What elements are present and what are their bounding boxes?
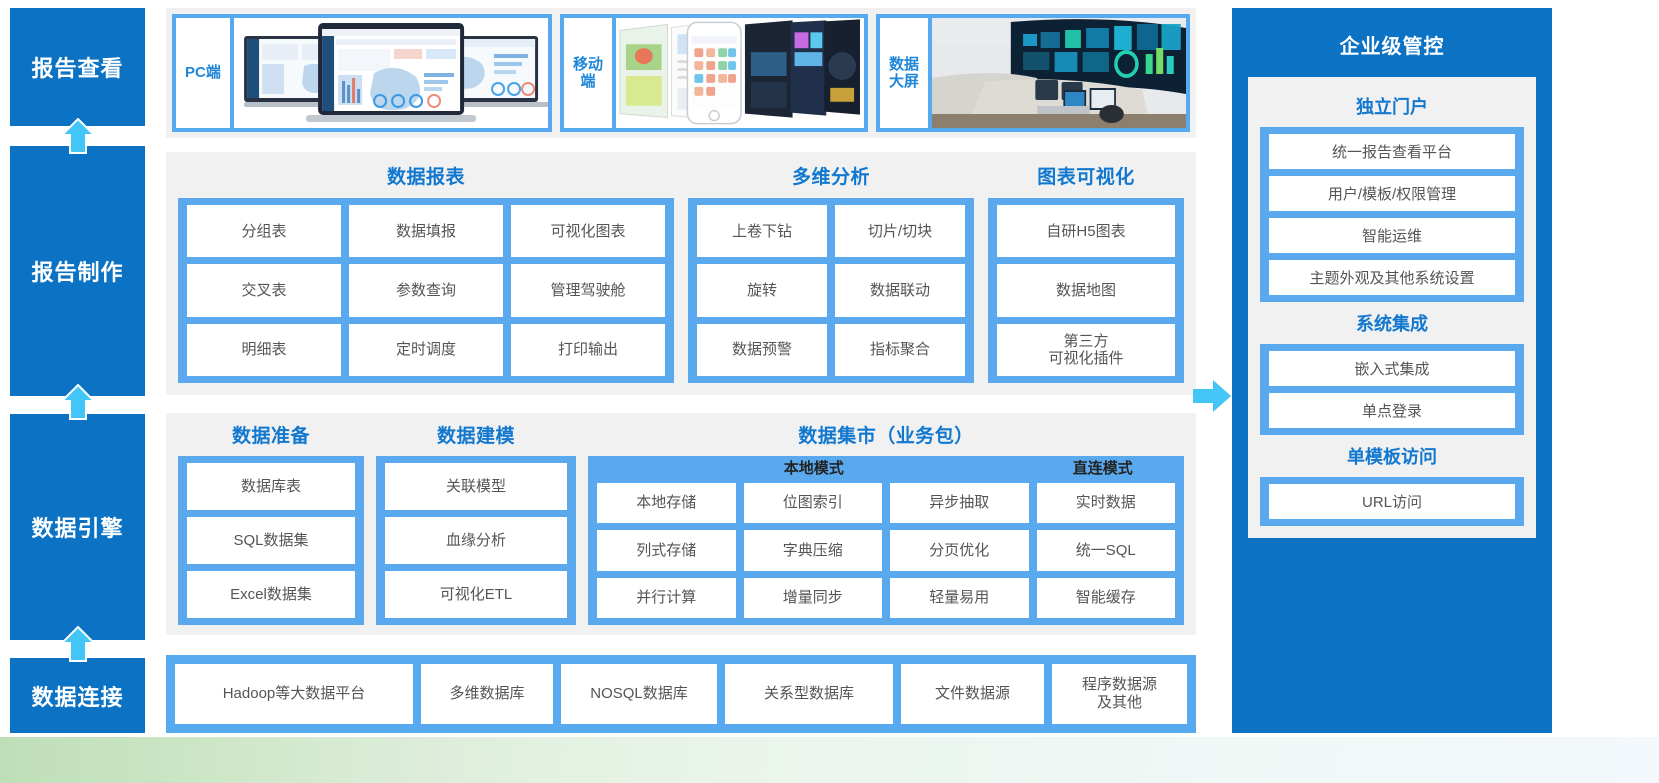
- enterprise-item[interactable]: 用户/模板/权限管理: [1269, 176, 1515, 211]
- grid-row: 旋转 数据联动: [697, 264, 965, 316]
- enterprise-item[interactable]: 嵌入式集成: [1269, 351, 1515, 386]
- group-title: 图表可视化: [988, 162, 1184, 189]
- grid-row: 明细表 定时调度 打印输出: [187, 324, 665, 376]
- feature-cell[interactable]: 关联模型: [385, 463, 567, 510]
- feature-cell[interactable]: 异步抽取: [890, 483, 1029, 524]
- group-multidim-analysis: 多维分析 上卷下钻 切片/切块 旋转 数据联动 数据预警 指标聚合: [688, 162, 974, 383]
- group-data-modeling: 数据建模 关联模型 血缘分析 可视化ETL: [376, 421, 576, 625]
- group-title: 数据准备: [178, 421, 364, 448]
- feature-cell[interactable]: 数据联动: [835, 264, 965, 316]
- feature-cell[interactable]: 数据预警: [697, 324, 827, 376]
- feature-cell[interactable]: 血缘分析: [385, 517, 567, 564]
- mode-header-local: 本地模式: [597, 458, 1031, 481]
- feature-cell[interactable]: 可视化图表: [511, 205, 665, 257]
- grid-row: 血缘分析: [385, 517, 567, 564]
- feature-cell[interactable]: 统一SQL: [1037, 530, 1176, 571]
- data-engine-panel: 数据准备 数据库表 SQL数据集 Excel数据集 数据建模: [166, 413, 1196, 635]
- datasource-cell[interactable]: 关系型数据库: [725, 664, 893, 724]
- enterprise-item[interactable]: 统一报告查看平台: [1269, 134, 1515, 169]
- feature-cell[interactable]: 智能缓存: [1037, 578, 1176, 619]
- feature-cell[interactable]: 可视化ETL: [385, 571, 567, 618]
- stage-label-data-engine[interactable]: 数据引擎: [10, 414, 145, 640]
- grid-row: 第三方 可视化插件: [997, 324, 1175, 376]
- device-tile-big-screen[interactable]: 数据 大屏: [876, 14, 1190, 132]
- right-arrow-icon: [1192, 376, 1232, 416]
- datasource-cell[interactable]: 文件数据源: [901, 664, 1044, 724]
- feature-cell[interactable]: 旋转: [697, 264, 827, 316]
- device-tile-label: 移动 端: [564, 18, 616, 128]
- feature-cell[interactable]: 交叉表: [187, 264, 341, 316]
- datasource-cell[interactable]: 多维数据库: [421, 664, 553, 724]
- feature-cell[interactable]: 自研H5图表: [997, 205, 1175, 257]
- feature-cell[interactable]: 数据地图: [997, 264, 1175, 316]
- mode-header-direct: 直连模式: [1031, 458, 1176, 481]
- enterprise-panel-title: 企业级管控: [1248, 8, 1536, 77]
- enterprise-group-title: 单模板访问: [1260, 435, 1524, 477]
- stage-label-data-connection[interactable]: 数据连接: [10, 658, 145, 733]
- feature-cell[interactable]: 明细表: [187, 324, 341, 376]
- device-tile-label: 数据 大屏: [880, 18, 932, 128]
- enterprise-item[interactable]: 单点登录: [1269, 393, 1515, 428]
- grid-row: 数据库表: [187, 463, 355, 510]
- up-arrow-icon: [61, 626, 95, 662]
- architecture-diagram: 报告查看 报告制作 数据引擎 数据连接 PC端: [0, 0, 1659, 783]
- up-arrow-icon: [61, 118, 95, 154]
- feature-cell[interactable]: 定时调度: [349, 324, 503, 376]
- grid-row: 数据预警 指标聚合: [697, 324, 965, 376]
- grid-row: SQL数据集: [187, 517, 355, 564]
- stage-label-report-view[interactable]: 报告查看: [10, 8, 145, 126]
- enterprise-group-single-template: URL访问: [1260, 477, 1524, 526]
- grid-row: 关联模型: [385, 463, 567, 510]
- group-title: 数据报表: [178, 162, 674, 189]
- feature-cell[interactable]: 实时数据: [1037, 483, 1176, 524]
- feature-cell[interactable]: 第三方 可视化插件: [997, 324, 1175, 376]
- feature-cell[interactable]: SQL数据集: [187, 517, 355, 564]
- datasource-cell[interactable]: NOSQL数据库: [561, 664, 717, 724]
- group-data-mart: 数据集市（业务包） 本地模式 直连模式 本地存储 位图索引 异步抽取 实时数据: [588, 421, 1184, 625]
- grid-row: 列式存储 字典压缩 分页优化 统一SQL: [597, 530, 1175, 571]
- group-grid: 自研H5图表 数据地图 第三方 可视化插件: [988, 198, 1184, 383]
- up-arrow-icon: [61, 384, 95, 420]
- grid-row: 数据地图: [997, 264, 1175, 316]
- enterprise-group-title: 系统集成: [1260, 302, 1524, 344]
- mobile-dashboard-screenshot: [616, 18, 864, 128]
- group-data-preparation: 数据准备 数据库表 SQL数据集 Excel数据集: [178, 421, 364, 625]
- enterprise-group-integration: 嵌入式集成 单点登录: [1260, 344, 1524, 435]
- feature-cell[interactable]: Excel数据集: [187, 571, 355, 618]
- grid-row: 自研H5图表: [997, 205, 1175, 257]
- enterprise-group-title: 独立门户: [1260, 85, 1524, 127]
- stage-label-text: 报告查看: [31, 51, 123, 83]
- enterprise-item[interactable]: 智能运维: [1269, 218, 1515, 253]
- grid-row: 本地存储 位图索引 异步抽取 实时数据: [597, 483, 1175, 524]
- enterprise-item[interactable]: 主题外观及其他系统设置: [1269, 260, 1515, 295]
- group-grid: 上卷下钻 切片/切块 旋转 数据联动 数据预警 指标聚合: [688, 198, 974, 383]
- report-build-panel: 数据报表 分组表 数据填报 可视化图表 交叉表 参数查询 管理驾驶舱 明细表 定: [166, 152, 1196, 395]
- stage-label-text: 数据引擎: [31, 511, 123, 543]
- feature-cell[interactable]: 指标聚合: [835, 324, 965, 376]
- feature-cell[interactable]: 本地存储: [597, 483, 736, 524]
- feature-cell[interactable]: 位图索引: [744, 483, 883, 524]
- feature-cell[interactable]: 数据填报: [349, 205, 503, 257]
- data-connection-panel: Hadoop等大数据平台 多维数据库 NOSQL数据库 关系型数据库 文件数据源…: [166, 655, 1196, 733]
- feature-cell[interactable]: 并行计算: [597, 578, 736, 619]
- enterprise-control-panel: 企业级管控 独立门户 统一报告查看平台 用户/模板/权限管理 智能运维 主题外观…: [1232, 8, 1552, 733]
- grid-row: Excel数据集: [187, 571, 355, 618]
- group-chart-visualization: 图表可视化 自研H5图表 数据地图 第三方 可视化插件: [988, 162, 1184, 383]
- grid-row: 分组表 数据填报 可视化图表: [187, 205, 665, 257]
- feature-cell[interactable]: 分组表: [187, 205, 341, 257]
- stage-label-text: 数据连接: [31, 680, 123, 712]
- datasource-cell[interactable]: 程序数据源 及其他: [1052, 664, 1187, 724]
- report-view-devices-panel: PC端: [166, 8, 1196, 138]
- group-title: 数据建模: [376, 421, 576, 448]
- data-mart-mode-headers: 本地模式 直连模式: [588, 456, 1184, 483]
- group-title: 数据集市（业务包）: [588, 421, 1184, 448]
- control-room-big-screen-photo: [932, 18, 1186, 128]
- grid-row: 交叉表 参数查询 管理驾驶舱: [187, 264, 665, 316]
- data-mart-grid: 本地模式 直连模式 本地存储 位图索引 异步抽取 实时数据 列式存储 字典压缩: [588, 456, 1184, 625]
- stage-label-text: 报告制作: [31, 255, 123, 287]
- pc-dashboard-screenshot: [234, 18, 548, 128]
- feature-cell[interactable]: 数据库表: [187, 463, 355, 510]
- group-data-report: 数据报表 分组表 数据填报 可视化图表 交叉表 参数查询 管理驾驶舱 明细表 定: [178, 162, 674, 383]
- feature-cell[interactable]: 参数查询: [349, 264, 503, 316]
- grid-row: 上卷下钻 切片/切块: [697, 205, 965, 257]
- feature-cell[interactable]: 列式存储: [597, 530, 736, 571]
- group-grid: 分组表 数据填报 可视化图表 交叉表 参数查询 管理驾驶舱 明细表 定时调度 打…: [178, 198, 674, 383]
- group-grid: 数据库表 SQL数据集 Excel数据集: [178, 456, 364, 625]
- device-tile-pc[interactable]: PC端: [172, 14, 552, 132]
- grid-row: 可视化ETL: [385, 571, 567, 618]
- group-title: 多维分析: [688, 162, 974, 189]
- feature-cell[interactable]: 增量同步: [744, 578, 883, 619]
- feature-cell[interactable]: 上卷下钻: [697, 205, 827, 257]
- feature-cell[interactable]: 切片/切块: [835, 205, 965, 257]
- stage-label-report-build[interactable]: 报告制作: [10, 146, 145, 396]
- feature-cell[interactable]: 管理驾驶舱: [511, 264, 665, 316]
- feature-cell[interactable]: 打印输出: [511, 324, 665, 376]
- enterprise-group-portal: 统一报告查看平台 用户/模板/权限管理 智能运维 主题外观及其他系统设置: [1260, 127, 1524, 302]
- feature-cell[interactable]: 分页优化: [890, 530, 1029, 571]
- feature-cell[interactable]: 轻量易用: [890, 578, 1029, 619]
- group-grid: 关联模型 血缘分析 可视化ETL: [376, 456, 576, 625]
- feature-cell[interactable]: 字典压缩: [744, 530, 883, 571]
- device-tile-mobile[interactable]: 移动 端: [560, 14, 868, 132]
- grid-row: 并行计算 增量同步 轻量易用 智能缓存: [597, 578, 1175, 619]
- datasource-cell[interactable]: Hadoop等大数据平台: [175, 664, 413, 724]
- device-tile-label: PC端: [176, 18, 234, 128]
- enterprise-item[interactable]: URL访问: [1269, 484, 1515, 519]
